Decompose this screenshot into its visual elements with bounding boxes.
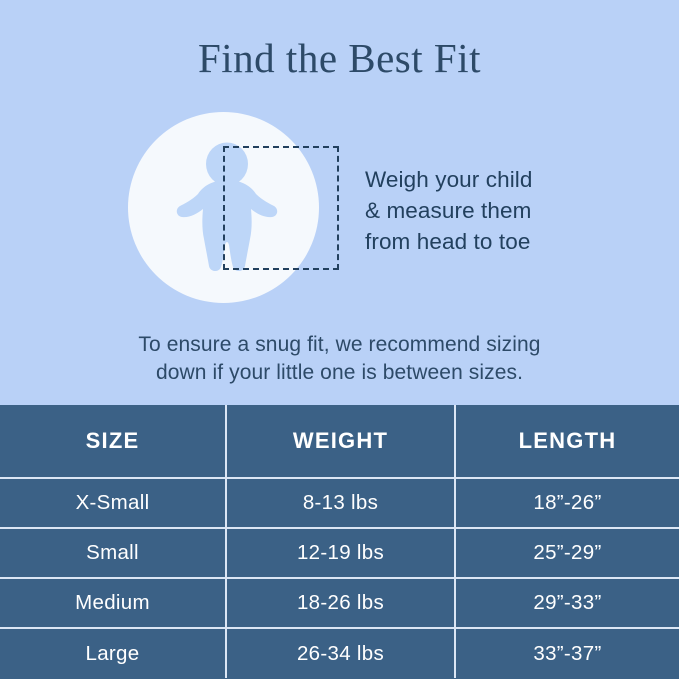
page-title: Find the Best Fit [0,34,679,82]
table-row: Large 26-34 lbs 33”-37” [0,628,679,678]
sizing-recommendation: To ensure a snug fit, we recommend sizin… [0,331,679,387]
table-header-row: SIZE WEIGHT LENGTH [0,405,679,478]
recommendation-line-2: down if your little one is between sizes… [0,359,679,387]
cell-length: 25”-29” [455,528,679,578]
measure-instructions: Weigh your child & measure them from hea… [365,164,595,257]
column-header-weight: WEIGHT [226,405,455,478]
cell-length: 33”-37” [455,628,679,678]
cell-size: X-Small [0,478,226,528]
cell-weight: 12-19 lbs [226,528,455,578]
table-row: Medium 18-26 lbs 29”-33” [0,578,679,628]
column-header-size: SIZE [0,405,226,478]
cell-weight: 26-34 lbs [226,628,455,678]
cell-size: Medium [0,578,226,628]
note-line-3: from head to toe [365,226,595,257]
cell-length: 18”-26” [455,478,679,528]
dashed-measure-box-icon [223,146,339,270]
table-row: X-Small 8-13 lbs 18”-26” [0,478,679,528]
table-row: Small 12-19 lbs 25”-29” [0,528,679,578]
cell-size: Large [0,628,226,678]
cell-size: Small [0,528,226,578]
note-line-1: Weigh your child [365,164,595,195]
recommendation-line-1: To ensure a snug fit, we recommend sizin… [0,331,679,359]
note-line-2: & measure them [365,195,595,226]
column-header-length: LENGTH [455,405,679,478]
size-chart-table: SIZE WEIGHT LENGTH X-Small 8-13 lbs 18”-… [0,405,679,679]
size-guide-page: Find the Best Fit Weigh your child & mea… [0,0,679,679]
cell-weight: 18-26 lbs [226,578,455,628]
cell-length: 29”-33” [455,578,679,628]
cell-weight: 8-13 lbs [226,478,455,528]
